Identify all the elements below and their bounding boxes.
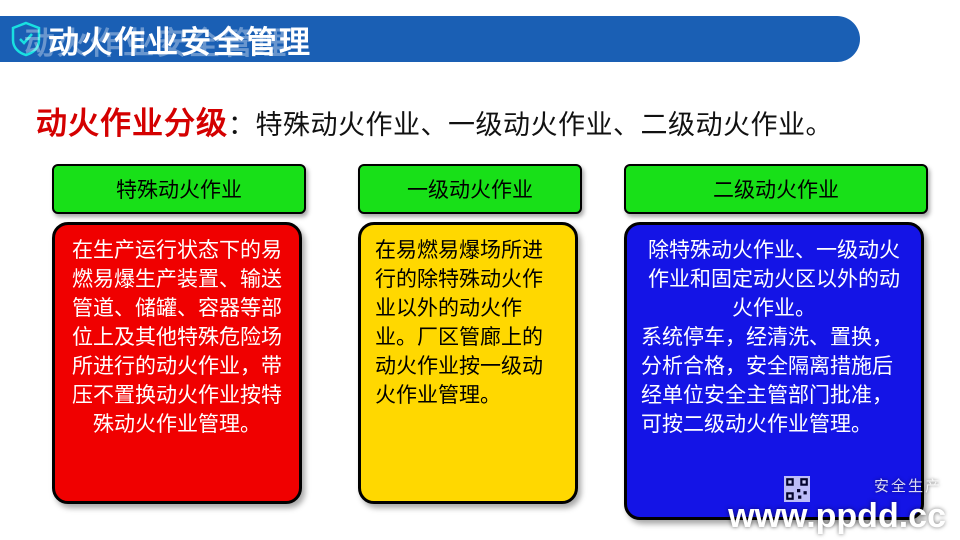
- card-level1: 在易燃易爆场所进行的除特殊动火作业以外的动火作业。厂区管廊上的动火作业按一级动火…: [358, 222, 578, 504]
- page-title: 动火作业安全管理: [48, 17, 312, 62]
- heading-line: 动火作业分级 ：特殊动火作业、一级动火作业、二级动火作业。: [36, 98, 833, 143]
- card-level2: 除特殊动火作业、一级动火作业和固定动火区以外的动火作业。 系统停车，经清洗、置换…: [624, 222, 924, 520]
- column-label-level1[interactable]: 一级动火作业: [358, 164, 582, 214]
- column-label-row: 特殊动火作业 一级动火作业 二级动火作业: [52, 164, 924, 212]
- card-level2-body-top: 除特殊动火作业、一级动火作业和固定动火区以外的动火作业。: [641, 237, 907, 324]
- card-special: 在生产运行状态下的易燃易爆生产装置、输送管道、储罐、容器等部位上及其他特殊危险场…: [52, 222, 302, 504]
- content-card-row: 在生产运行状态下的易燃易爆生产装置、输送管道、储罐、容器等部位上及其他特殊危险场…: [52, 222, 924, 522]
- heading-rest: ：特殊动火作业、一级动火作业、二级动火作业。: [228, 103, 833, 142]
- card-level1-body: 在易燃易爆场所进行的除特殊动火作业以外的动火作业。厂区管廊上的动火作业按一级动火…: [375, 237, 561, 411]
- shield-icon: [8, 19, 44, 59]
- card-level2-body-bottom: 系统停车，经清洗、置换，分析合格，安全隔离措施后经单位安全主管部门批准，可按二级…: [641, 324, 907, 440]
- column-label-level2[interactable]: 二级动火作业: [624, 164, 928, 214]
- title-bar: 动火作业安全管理: [0, 16, 860, 62]
- column-label-special[interactable]: 特殊动火作业: [52, 164, 306, 214]
- card-special-body: 在生产运行状态下的易燃易爆生产装置、输送管道、储罐、容器等部位上及其他特殊危险场…: [69, 237, 285, 440]
- heading-keyword: 动火作业分级: [36, 98, 228, 143]
